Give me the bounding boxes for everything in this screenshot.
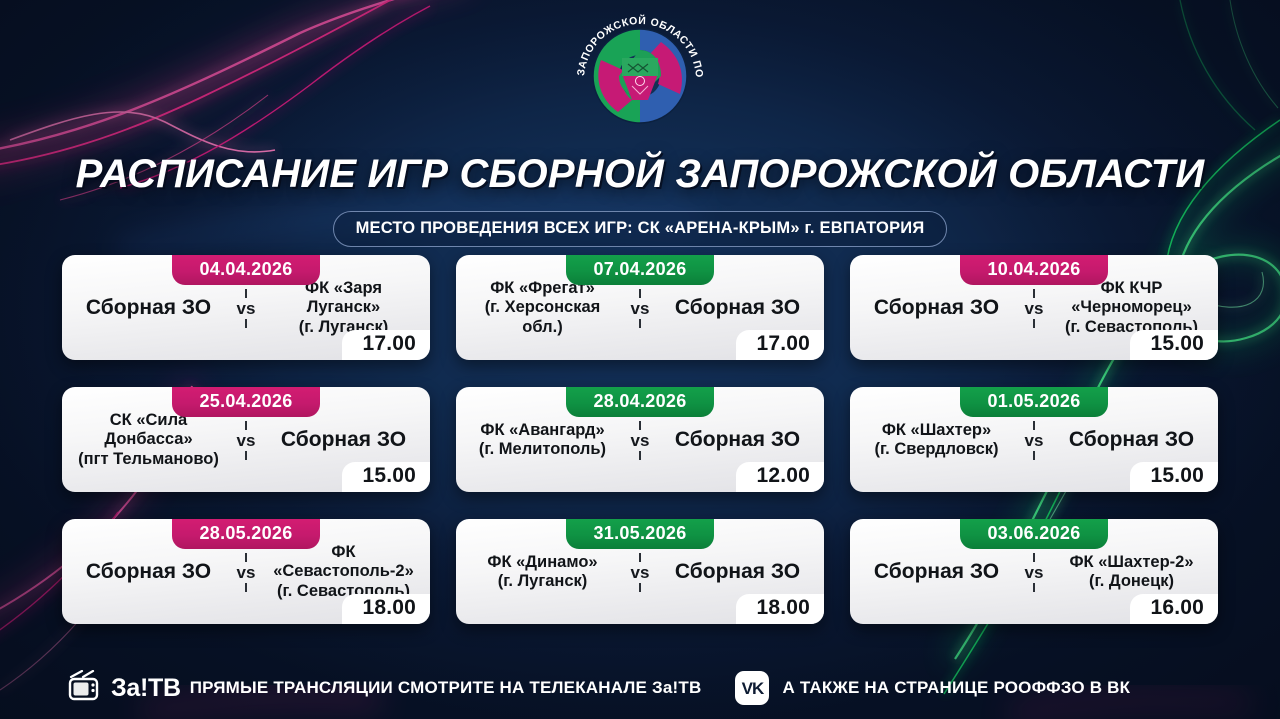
vs-tick-bottom: [1033, 583, 1035, 592]
match-date-badge: 10.04.2026: [960, 255, 1108, 285]
away-team: Сборная ЗО: [269, 428, 418, 453]
match-card[interactable]: 10.04.2026Сборная ЗОvsФК КЧР «Черноморец…: [850, 255, 1218, 360]
match-date-badge: 04.04.2026: [172, 255, 320, 285]
match-card[interactable]: 31.05.2026ФК «Динамо»(г. Луганск)vsСборн…: [456, 519, 824, 624]
home-team-name: Сборная ЗО: [862, 296, 1011, 321]
away-team: Сборная ЗО: [663, 560, 812, 585]
match-teams: Сборная ЗОvsФК «Севастополь-2»(г. Севаст…: [62, 548, 430, 596]
vs-tick-bottom: [1033, 319, 1035, 328]
home-team-city: (пгт Тельманово): [74, 450, 223, 469]
match-teams: Сборная ЗОvsФК «Заря Луганск»(г. Луганск…: [62, 284, 430, 332]
match-teams: ФК «Авангард»(г. Мелитополь)vsСборная ЗО: [456, 416, 824, 464]
vs-label: vs: [237, 299, 256, 318]
match-card[interactable]: 01.05.2026ФК «Шахтер»(г. Свердловск)vsСб…: [850, 387, 1218, 492]
match-time: 16.00: [1130, 594, 1218, 624]
vs-tick-bottom: [1033, 451, 1035, 460]
away-team-name: Сборная ЗО: [663, 296, 812, 321]
match-time: 12.00: [736, 462, 824, 492]
vs-tick-bottom: [639, 319, 641, 328]
vs-tick-top: [1033, 553, 1035, 562]
away-team-city: (г. Донецк): [1057, 572, 1206, 591]
match-teams: ФК «Шахтер»(г. Свердловск)vsСборная ЗО: [850, 416, 1218, 464]
home-team: СК «Сила Донбасса»(пгт Тельманово): [74, 411, 223, 469]
match-card[interactable]: 04.04.2026Сборная ЗОvsФК «Заря Луганск»(…: [62, 255, 430, 360]
match-date-badge: 31.05.2026: [566, 519, 714, 549]
match-time: 15.00: [1130, 330, 1218, 360]
match-teams: ФК «Динамо»(г. Луганск)vsСборная ЗО: [456, 548, 824, 596]
tv-channel-logo: За!ТВ: [111, 676, 181, 701]
match-card[interactable]: 28.04.2026ФК «Авангард»(г. Мелитополь)vs…: [456, 387, 824, 492]
vs-label: vs: [631, 431, 650, 450]
match-teams: ФК «Фрегат»(г. Херсонская обл.)vsСборная…: [456, 284, 824, 332]
away-team-name: Сборная ЗО: [1057, 428, 1206, 453]
vs-label: vs: [1025, 431, 1044, 450]
away-team: Сборная ЗО: [663, 428, 812, 453]
home-team: Сборная ЗО: [862, 560, 1011, 585]
match-teams: СК «Сила Донбасса»(пгт Тельманово)vsСбор…: [62, 416, 430, 464]
home-team: ФК «Динамо»(г. Луганск): [468, 553, 617, 592]
match-date-badge: 07.04.2026: [566, 255, 714, 285]
vs-tick-bottom: [245, 451, 247, 460]
vs-label: vs: [237, 563, 256, 582]
vs-label: vs: [631, 299, 650, 318]
match-card[interactable]: 28.05.2026Сборная ЗОvsФК «Севастополь-2»…: [62, 519, 430, 624]
home-team-name: ФК «Динамо»: [468, 553, 617, 572]
vs-tick-top: [1033, 289, 1035, 298]
vs-tick-top: [639, 553, 641, 562]
vs-tick-top: [245, 553, 247, 562]
tv-icon: [68, 670, 102, 707]
match-time: 18.00: [342, 594, 430, 624]
vs-separator: vs: [223, 553, 269, 592]
vs-tick-bottom: [245, 319, 247, 328]
match-time: 17.00: [342, 330, 430, 360]
home-team-name: Сборная ЗО: [862, 560, 1011, 585]
away-team-name: Сборная ЗО: [269, 428, 418, 453]
home-team-city: (г. Мелитополь): [468, 440, 617, 459]
match-time: 18.00: [736, 594, 824, 624]
home-team-name: Сборная ЗО: [74, 296, 223, 321]
match-time: 15.00: [342, 462, 430, 492]
vs-separator: vs: [617, 553, 663, 592]
vs-separator: vs: [1011, 289, 1057, 328]
match-date-badge: 03.06.2026: [960, 519, 1108, 549]
vs-separator: vs: [617, 421, 663, 460]
home-team: ФК «Фрегат»(г. Херсонская обл.): [468, 279, 617, 337]
home-team-city: (г. Свердловск): [862, 440, 1011, 459]
vs-tick-top: [245, 289, 247, 298]
vk-icon[interactable]: VK: [735, 671, 769, 705]
match-card[interactable]: 25.04.2026СК «Сила Донбасса»(пгт Тельман…: [62, 387, 430, 492]
home-team-city: (г. Луганск): [468, 572, 617, 591]
match-schedule-grid: 04.04.2026Сборная ЗОvsФК «Заря Луганск»(…: [62, 255, 1218, 624]
team-logo: СБОРНАЯ ЗАПОРОЖСКОЙ ОБЛАСТИ ПО ФУТБОЛУ: [566, 2, 714, 150]
vs-tick-top: [245, 421, 247, 430]
home-team: ФК «Шахтер»(г. Свердловск): [862, 421, 1011, 460]
away-team-name: Сборная ЗО: [663, 428, 812, 453]
page-title: РАСПИСАНИЕ ИГР СБОРНОЙ ЗАПОРОЖСКОЙ ОБЛАС…: [0, 152, 1280, 197]
vs-label: vs: [631, 563, 650, 582]
vs-tick-top: [639, 289, 641, 298]
footer-vk-block: VK А ТАКЖЕ НА СТРАНИЦЕ РООФФЗО В ВК: [735, 671, 1130, 705]
vs-tick-bottom: [639, 583, 641, 592]
match-date-badge: 28.04.2026: [566, 387, 714, 417]
home-team: Сборная ЗО: [74, 296, 223, 321]
match-time: 15.00: [1130, 462, 1218, 492]
away-team: Сборная ЗО: [663, 296, 812, 321]
vs-separator: vs: [1011, 421, 1057, 460]
home-team-name: Сборная ЗО: [74, 560, 223, 585]
home-team-name: ФК «Авангард»: [468, 421, 617, 440]
vk-page-text: А ТАКЖЕ НА СТРАНИЦЕ РООФФЗО В ВК: [782, 678, 1130, 698]
home-team: ФК «Авангард»(г. Мелитополь): [468, 421, 617, 460]
match-date-badge: 28.05.2026: [172, 519, 320, 549]
tv-broadcast-text: ПРЯМЫЕ ТРАНСЛЯЦИИ СМОТРИТЕ НА ТЕЛЕКАНАЛЕ…: [190, 678, 702, 698]
away-team: ФК КЧР «Черноморец»(г. Севастополь): [1057, 279, 1206, 337]
away-team: ФК «Заря Луганск»(г. Луганск): [269, 279, 418, 337]
match-date-badge: 25.04.2026: [172, 387, 320, 417]
home-team-city: (г. Херсонская обл.): [468, 298, 617, 337]
page-header: СБОРНАЯ ЗАПОРОЖСКОЙ ОБЛАСТИ ПО ФУТБОЛУ: [0, 0, 1280, 247]
match-teams: Сборная ЗОvsФК «Шахтер-2»(г. Донецк): [850, 548, 1218, 596]
vs-label: vs: [1025, 563, 1044, 582]
away-team: ФК «Севастополь-2»(г. Севастополь): [269, 543, 418, 601]
home-team-name: ФК «Шахтер»: [862, 421, 1011, 440]
vs-separator: vs: [617, 289, 663, 328]
page-footer: За!ТВ ПРЯМЫЕ ТРАНСЛЯЦИИ СМОТРИТЕ НА ТЕЛЕ…: [0, 657, 1280, 719]
away-team-name: ФК «Шахтер-2»: [1057, 553, 1206, 572]
vs-tick-bottom: [639, 451, 641, 460]
footer-tv-block: За!ТВ ПРЯМЫЕ ТРАНСЛЯЦИИ СМОТРИТЕ НА ТЕЛЕ…: [68, 670, 701, 707]
home-team: Сборная ЗО: [862, 296, 1011, 321]
match-time: 17.00: [736, 330, 824, 360]
vs-separator: vs: [1011, 553, 1057, 592]
match-card[interactable]: 03.06.2026Сборная ЗОvsФК «Шахтер-2»(г. Д…: [850, 519, 1218, 624]
venue-subtitle: МЕСТО ПРОВЕДЕНИЯ ВСЕХ ИГР: СК «АРЕНА-КРЫ…: [333, 211, 948, 247]
vs-label: vs: [1025, 299, 1044, 318]
match-teams: Сборная ЗОvsФК КЧР «Черноморец»(г. Севас…: [850, 284, 1218, 332]
home-team: Сборная ЗО: [74, 560, 223, 585]
away-team: Сборная ЗО: [1057, 428, 1206, 453]
match-card[interactable]: 07.04.2026ФК «Фрегат»(г. Херсонская обл.…: [456, 255, 824, 360]
vs-separator: vs: [223, 421, 269, 460]
match-date-badge: 01.05.2026: [960, 387, 1108, 417]
vs-tick-bottom: [245, 583, 247, 592]
away-team-name: Сборная ЗО: [663, 560, 812, 585]
vs-label: vs: [237, 431, 256, 450]
vs-tick-top: [1033, 421, 1035, 430]
away-team: ФК «Шахтер-2»(г. Донецк): [1057, 553, 1206, 592]
vs-tick-top: [639, 421, 641, 430]
vs-separator: vs: [223, 289, 269, 328]
